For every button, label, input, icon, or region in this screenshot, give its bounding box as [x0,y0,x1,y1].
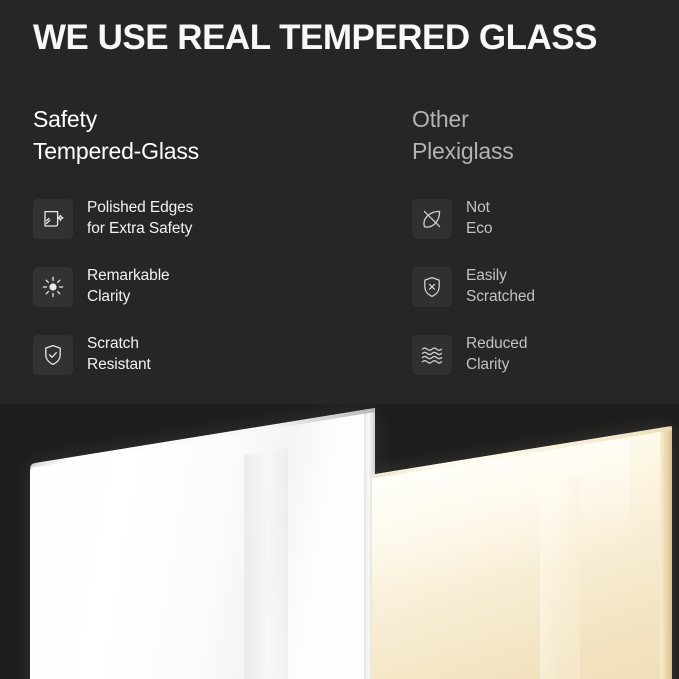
wavy-lines-icon [412,335,452,375]
feature-polished-edges: Polished Edges for Extra Safety [33,197,323,241]
column-tempered-glass: Safety Tempered-Glass Polished Edges for… [33,104,323,377]
polished-edge-sparkle-icon [33,199,73,239]
column-plexiglass: Other Plexiglass Not Eco Easi [412,104,679,377]
plexiglass-reflection [540,477,580,679]
plexiglass-edge [660,426,672,679]
column-title-plexiglass: Other Plexiglass [412,104,679,167]
leaf-crossed-out-icon [412,199,452,239]
feature-remarkable-clarity: Remarkable Clarity [33,265,323,309]
product-comparison-photo [0,404,679,679]
comparison-columns: Safety Tempered-Glass Polished Edges for… [0,104,679,404]
feature-label-polished-edges: Polished Edges for Extra Safety [87,198,193,239]
feature-easily-scratched: Easily Scratched [412,265,679,309]
feature-scratch-resistant: Scratch Resistant [33,333,323,377]
shield-check-icon [33,335,73,375]
infographic-card: WE USE REAL TEMPERED GLASS Safety Temper… [0,0,679,679]
page-title: WE USE REAL TEMPERED GLASS [33,18,597,58]
feature-label-reduced-clarity: Reduced Clarity [466,334,527,375]
feature-not-eco: Not Eco [412,197,679,241]
feature-label-easily-scratched: Easily Scratched [466,266,535,307]
feature-label-remarkable-clarity: Remarkable Clarity [87,266,170,307]
feature-reduced-clarity: Reduced Clarity [412,333,679,377]
sun-clarity-icon [33,267,73,307]
column-title-tempered-glass: Safety Tempered-Glass [33,104,323,167]
feature-label-not-eco: Not Eco [466,198,492,239]
feature-label-scratch-resistant: Scratch Resistant [87,334,151,375]
tempered-glass-reflection [244,448,288,679]
shield-x-icon [412,267,452,307]
